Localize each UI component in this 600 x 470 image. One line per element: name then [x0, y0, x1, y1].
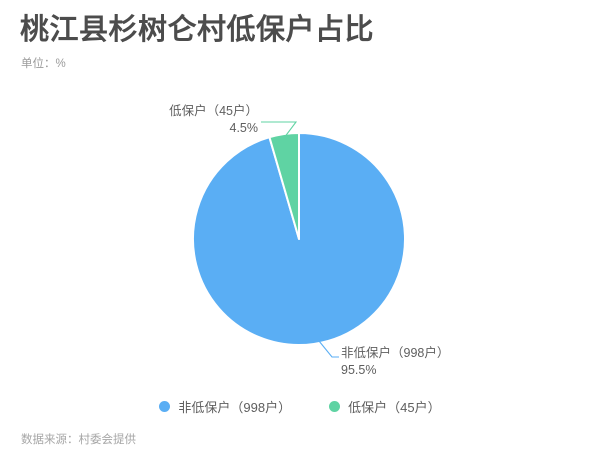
- data-label-non-low-income-name: 非低保户（998户）: [341, 346, 449, 360]
- data-label-low-income-name: 低保户（45户）: [169, 104, 258, 118]
- data-label-non-low-income: 非低保户（998户） 95.5%: [341, 345, 449, 379]
- data-label-low-income-percent: 4.5%: [150, 120, 258, 137]
- legend-item-low-income-label: 低保户（45户）: [348, 397, 440, 416]
- pie-slices: [193, 133, 405, 345]
- chart-legend: 非低保户（998户） 低保户（45户）: [0, 397, 600, 416]
- data-label-non-low-income-percent: 95.5%: [341, 362, 449, 379]
- pie-chart-figure: 桃江县杉树仑村低保户占比 单位：% 低保户（45户） 4.5% 非低保户（998…: [0, 0, 600, 470]
- legend-item-non-low-income-label: 非低保户（998户）: [178, 397, 291, 416]
- legend-swatch-circle-icon: [159, 401, 170, 412]
- legend-item-non-low-income[interactable]: 非低保户（998户）: [159, 397, 291, 416]
- chart-source-note: 数据来源：村委会提供: [21, 432, 136, 448]
- legend-item-low-income[interactable]: 低保户（45户）: [329, 397, 440, 416]
- data-label-low-income: 低保户（45户） 4.5%: [150, 103, 258, 137]
- legend-swatch-circle-icon: [329, 401, 340, 412]
